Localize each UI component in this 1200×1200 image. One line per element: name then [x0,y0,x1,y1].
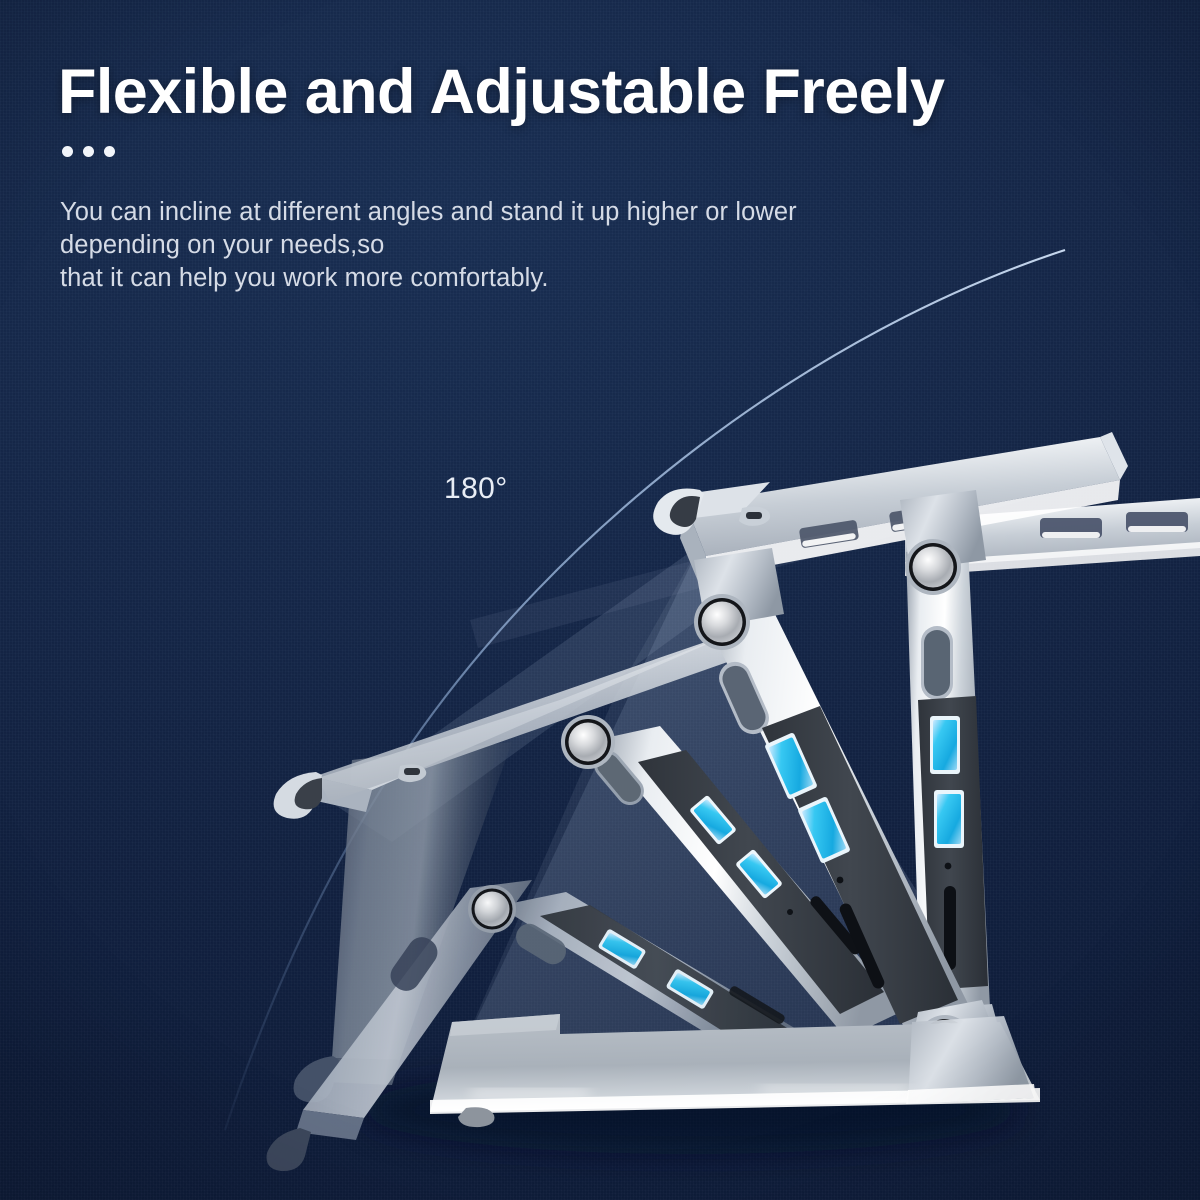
background-vignette [0,0,1200,1200]
decorative-dots [62,146,115,157]
dot-3 [104,146,115,157]
product-feature-banner: Flexible and Adjustable Freely You can i… [0,0,1200,1200]
description-line-1: You can incline at different angles and … [60,196,940,229]
dot-1 [62,146,73,157]
dot-2 [83,146,94,157]
description-line-2: depending on your needs,so [60,229,940,262]
angle-annotation-label: 180° [444,472,508,506]
description-line-3: that it can help you work more comfortab… [60,262,940,295]
page-title: Flexible and Adjustable Freely [58,56,944,128]
description-text: You can incline at different angles and … [60,196,940,295]
